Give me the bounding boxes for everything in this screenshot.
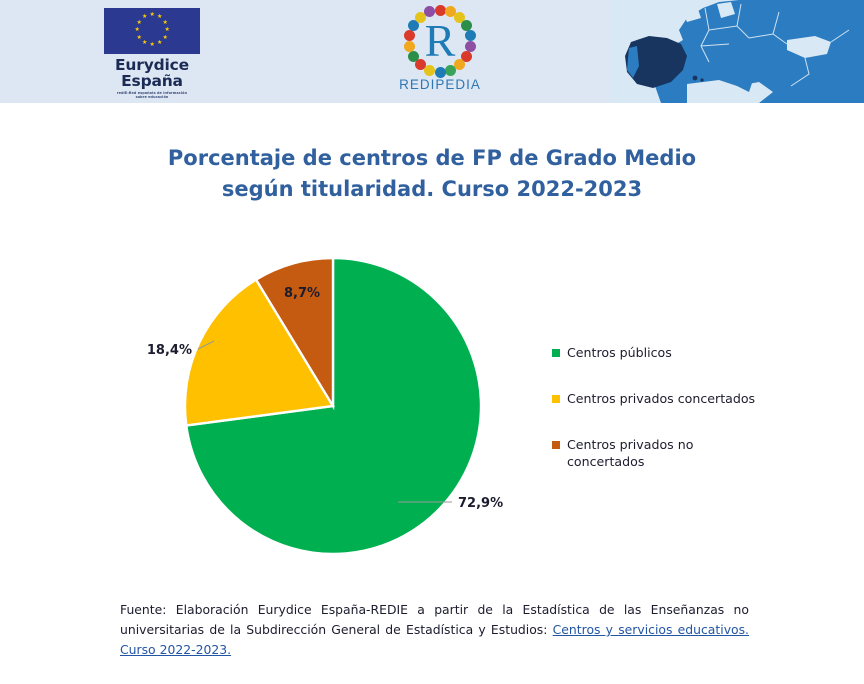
chart-title: Porcentaje de centros de FP de Grado Med… xyxy=(0,143,864,205)
eurydice-name-line2: España xyxy=(92,73,212,89)
pie-value-label-publicos: 72,9% xyxy=(458,496,503,511)
redipedia-logo: R REDIPEDIA xyxy=(385,3,495,92)
redipedia-wordmark: REDIPEDIA xyxy=(385,77,495,92)
source-note: Fuente: Elaboración Eurydice España-REDI… xyxy=(120,600,749,660)
eu-star-icon: ★ xyxy=(142,41,146,45)
legend-label-privados-concertados: Centros privados concertados xyxy=(567,390,755,407)
redipedia-flag-dot-icon xyxy=(408,51,419,62)
pie-value-label-privados-no-concertados: 8,7% xyxy=(284,286,320,301)
chart-legend: Centros públicos Centros privados concer… xyxy=(552,344,802,499)
eu-star-icon: ★ xyxy=(137,21,141,25)
legend-label-privados-no-concertados: Centros privados no concertados xyxy=(567,436,717,470)
eurydice-name-line1: Eurydice xyxy=(92,57,212,73)
redipedia-flag-dot-icon xyxy=(404,41,415,52)
eu-star-icon: ★ xyxy=(137,36,141,40)
eu-star-icon: ★ xyxy=(150,43,154,47)
legend-swatch-icon-publicos xyxy=(552,349,560,357)
redipedia-flag-dot-icon xyxy=(445,65,456,76)
legend-label-publicos: Centros públicos xyxy=(567,344,672,361)
balearic-islands-2 xyxy=(700,78,703,81)
page-header-band: ★★★★★★★★★★★★ Eurydice España redIE:Red e… xyxy=(0,0,864,103)
eu-star-icon: ★ xyxy=(142,15,146,19)
europe-map-svg xyxy=(609,0,864,103)
redipedia-flag-ring-icon: R xyxy=(402,3,478,79)
legend-swatch-icon-privados-no-concertados xyxy=(552,441,560,449)
eurydice-logo: ★★★★★★★★★★★★ Eurydice España redIE:Red e… xyxy=(92,8,212,100)
pie-value-label-privados-concertados: 18,4% xyxy=(147,343,192,358)
eu-star-icon: ★ xyxy=(157,15,161,19)
redipedia-flag-dot-icon xyxy=(435,5,446,16)
redipedia-flag-dot-icon xyxy=(435,67,446,78)
legend-swatch-icon-privados-concertados xyxy=(552,395,560,403)
eurydice-subtitle-line2: sobre educación xyxy=(92,95,212,99)
balearic-islands xyxy=(693,76,698,81)
eu-star-icon: ★ xyxy=(157,41,161,45)
legend-item-centros-privados-concertados[interactable]: Centros privados concertados xyxy=(552,390,802,407)
legend-item-centros-privados-no-concertados[interactable]: Centros privados no concertados xyxy=(552,436,802,470)
chart-title-line1: Porcentaje de centros de FP de Grado Med… xyxy=(0,143,864,174)
eu-flag-icon: ★★★★★★★★★★★★ xyxy=(104,8,200,54)
legend-item-centros-publicos[interactable]: Centros públicos xyxy=(552,344,802,361)
eu-star-icon: ★ xyxy=(165,28,169,32)
pie-slices xyxy=(185,258,481,554)
eu-star-icon: ★ xyxy=(135,28,139,32)
eu-star-icon: ★ xyxy=(162,36,166,40)
eu-star-icon: ★ xyxy=(162,21,166,25)
europe-map-graphic xyxy=(609,0,864,103)
eu-star-icon: ★ xyxy=(150,13,154,17)
chart-title-line2: según titularidad. Curso 2022-2023 xyxy=(0,174,864,205)
redipedia-flag-dot-icon xyxy=(404,30,415,41)
